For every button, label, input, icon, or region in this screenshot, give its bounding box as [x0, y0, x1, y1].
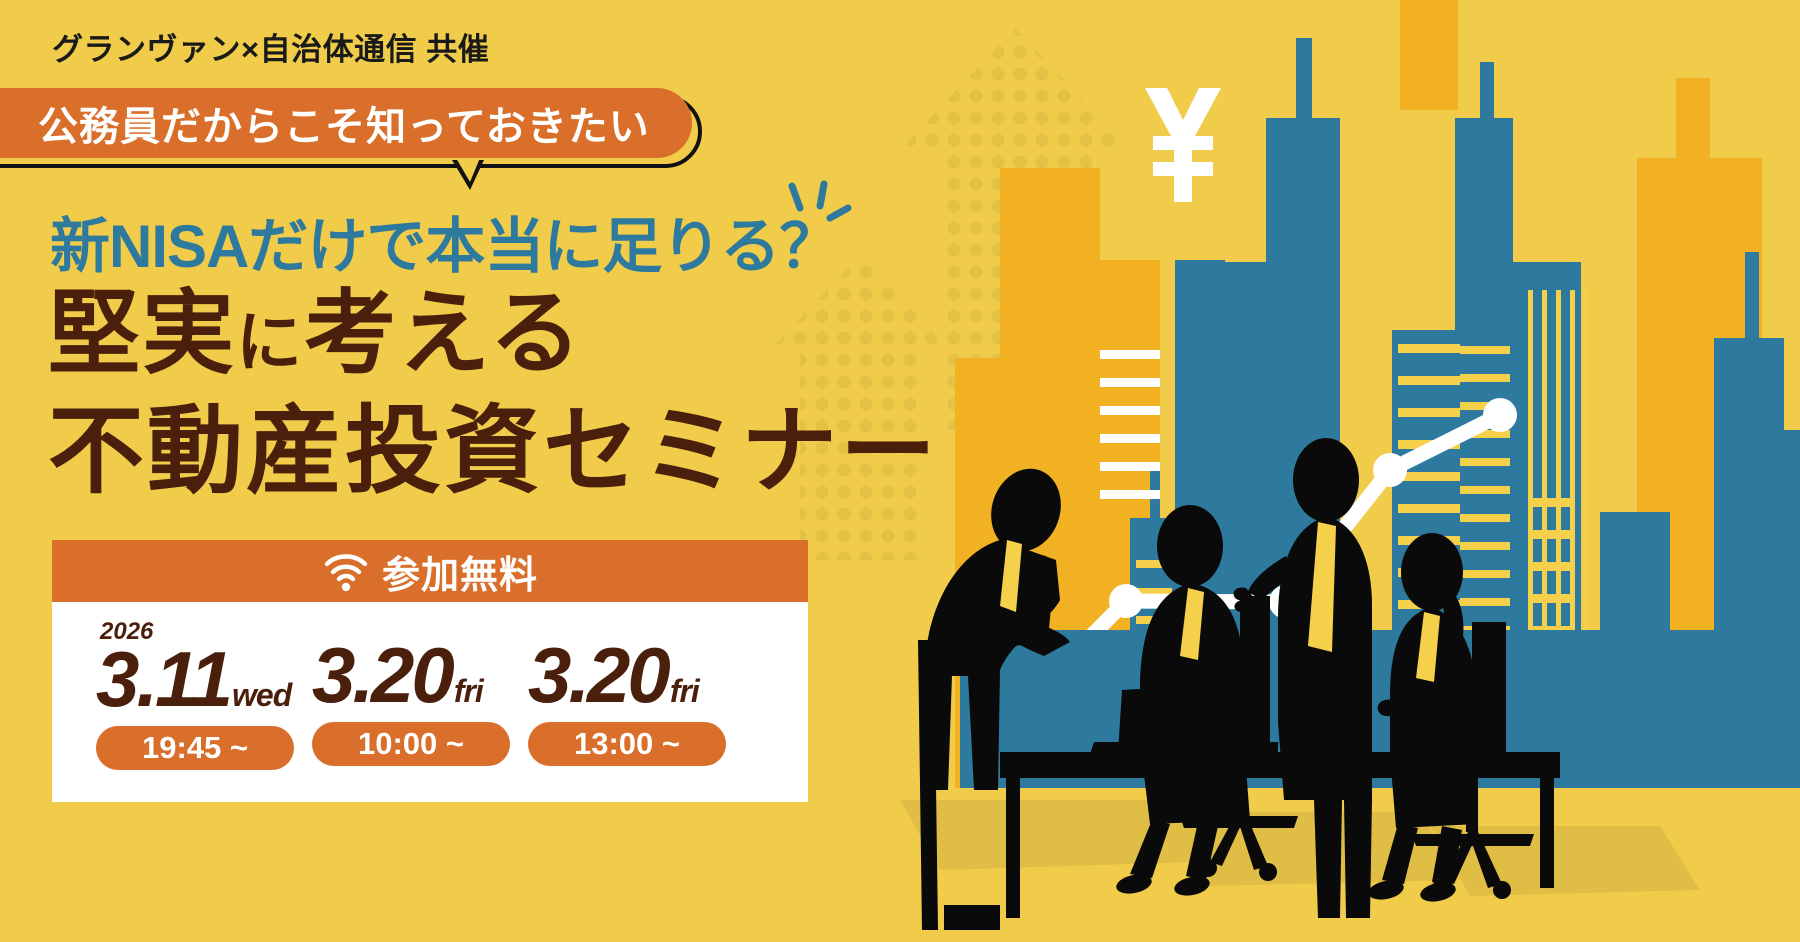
headline-line1-rest: 考える — [304, 283, 583, 385]
catch-badge-tail-fill — [456, 158, 480, 182]
sparkle-icon — [786, 178, 856, 248]
session-dow: fri — [454, 673, 483, 709]
free-entry-label: 参加無料 — [382, 544, 538, 599]
headline-line-2: 不動産投資セミナー — [48, 404, 939, 500]
host-line: グランヴァン×自治体通信 共催 — [52, 24, 489, 69]
session-item: 2026 3.11wed 19:45 ~ — [52, 618, 312, 770]
session-time-badge: 13:00 ~ — [528, 722, 726, 766]
catch-badge: 公務員だからこそ知っておきたい — [0, 88, 702, 161]
headline-line1-main: 堅実 — [48, 283, 236, 385]
session-dow: wed — [232, 677, 291, 713]
session-date-value: 3.20 — [528, 631, 668, 719]
session-time-badge: 19:45 ~ — [96, 726, 294, 770]
session-date: 3.11wed — [96, 642, 294, 716]
session-item: 3.20fri 13:00 ~ — [528, 618, 736, 766]
seminar-banner: グランヴァン×自治体通信 共催 公務員だからこそ知っておきたい 新NISAだけで… — [0, 0, 1800, 942]
free-entry-bar: 参加無料 — [52, 540, 808, 602]
schedule-card: 参加無料 2026 3.11wed 19:45 ~ 3.20fri 10:00 … — [52, 540, 808, 802]
session-time-badge: 10:00 ~ — [312, 722, 510, 766]
session-item: 3.20fri 10:00 ~ — [312, 618, 528, 766]
session-list: 2026 3.11wed 19:45 ~ 3.20fri 10:00 ~ 3.2… — [52, 602, 808, 802]
headline-line-1: 堅実に考える — [48, 288, 583, 380]
catch-badge-label: 公務員だからこそ知っておきたい — [38, 94, 650, 152]
session-date-value: 3.11 — [96, 635, 230, 723]
session-date: 3.20fri — [528, 638, 726, 712]
catch-badge-body: 公務員だからこそ知っておきたい — [0, 88, 692, 158]
sub-headline: 新NISAだけで本当に足りる？ — [50, 198, 838, 285]
session-dow: fri — [670, 673, 699, 709]
wifi-icon — [322, 550, 368, 592]
session-date: 3.20fri — [312, 638, 510, 712]
headline-line1-small: に — [236, 305, 304, 379]
session-date-value: 3.20 — [312, 631, 452, 719]
